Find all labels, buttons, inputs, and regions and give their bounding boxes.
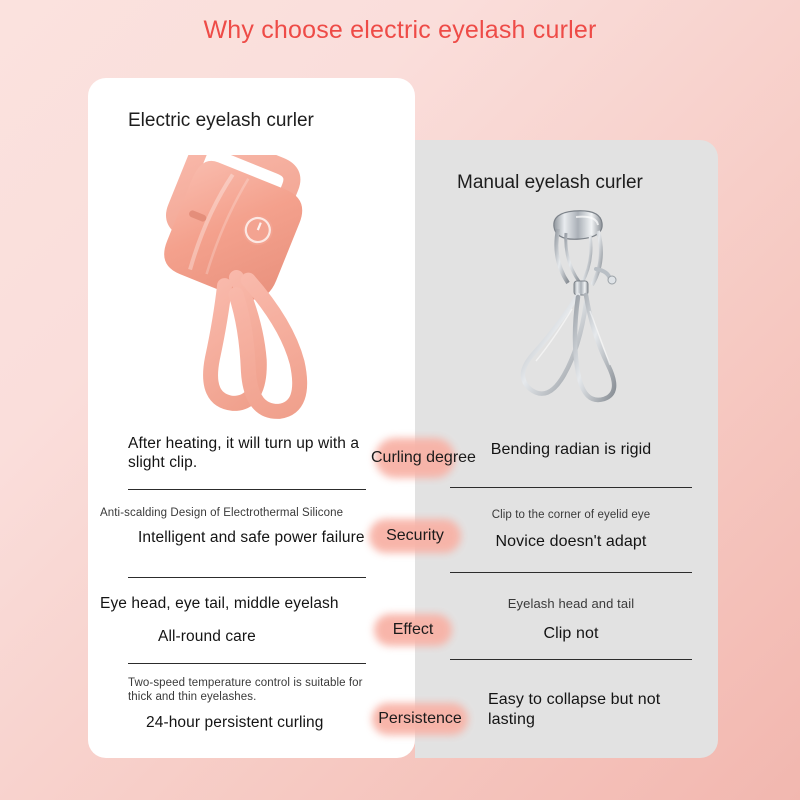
row-divider bbox=[128, 489, 366, 490]
row-1-electric-main: After heating, it will turn up with a sl… bbox=[100, 434, 370, 472]
criteria-label-security: Security bbox=[367, 516, 463, 556]
row-divider bbox=[450, 659, 692, 660]
row-4-electric-sub: Two-speed temperature control is suitabl… bbox=[100, 676, 370, 704]
row-4-electric-main: 24-hour persistent curling bbox=[100, 713, 370, 732]
row-1-manual-cell: Bending radian is rigid bbox=[440, 424, 702, 500]
row-4-manual-main: Easy to collapse but not lasting bbox=[448, 690, 698, 730]
electric-eyelash-curler-image bbox=[105, 155, 405, 420]
row-3-manual-main: Clip not bbox=[440, 624, 702, 644]
row-divider bbox=[128, 577, 366, 578]
row-divider bbox=[128, 663, 366, 664]
criteria-label-text: Security bbox=[386, 527, 444, 545]
row-3-electric-sub: Eye head, eye tail, middle eyelash bbox=[100, 594, 390, 613]
electric-card-title: Electric eyelash curler bbox=[128, 110, 314, 132]
criteria-label-text: Curling degree bbox=[367, 449, 463, 467]
row-3-electric-cell: Eye head, eye tail, middle eyelash All-r… bbox=[100, 592, 390, 670]
row-divider bbox=[450, 487, 692, 488]
row-4-electric-cell: Two-speed temperature control is suitabl… bbox=[100, 670, 370, 758]
criteria-label-persistence: Persistence bbox=[366, 700, 474, 738]
criteria-label-text: Persistence bbox=[378, 710, 462, 728]
row-1-manual-main: Bending radian is rigid bbox=[440, 440, 702, 460]
row-2-electric-main: Intelligent and safe power failure bbox=[100, 528, 370, 547]
row-2-electric-sub: Anti-scalding Design of Electrothermal S… bbox=[100, 506, 370, 520]
page-title: Why choose electric eyelash curler bbox=[0, 16, 800, 45]
criteria-label-text: Effect bbox=[393, 621, 434, 639]
row-4-manual-cell: Easy to collapse but not lasting bbox=[448, 670, 698, 758]
manual-eyelash-curler-image bbox=[492, 205, 667, 410]
row-2-manual-cell: Clip to the corner of eyelid eye Novice … bbox=[440, 500, 702, 592]
row-3-electric-main: All-round care bbox=[100, 627, 390, 646]
row-2-manual-main: Novice doesn't adapt bbox=[440, 532, 702, 552]
criteria-label-effect: Effect bbox=[374, 611, 452, 649]
manual-card-title: Manual eyelash curler bbox=[457, 172, 643, 194]
row-2-manual-sub: Clip to the corner of eyelid eye bbox=[440, 508, 702, 522]
infographic-canvas: Why choose electric eyelash curler Manua… bbox=[0, 0, 800, 800]
row-divider bbox=[450, 572, 692, 573]
row-3-manual-sub: Eyelash head and tail bbox=[440, 596, 702, 612]
row-2-electric-cell: Anti-scalding Design of Electrothermal S… bbox=[100, 500, 370, 592]
criteria-label-curling-degree: Curling degree bbox=[367, 432, 463, 484]
